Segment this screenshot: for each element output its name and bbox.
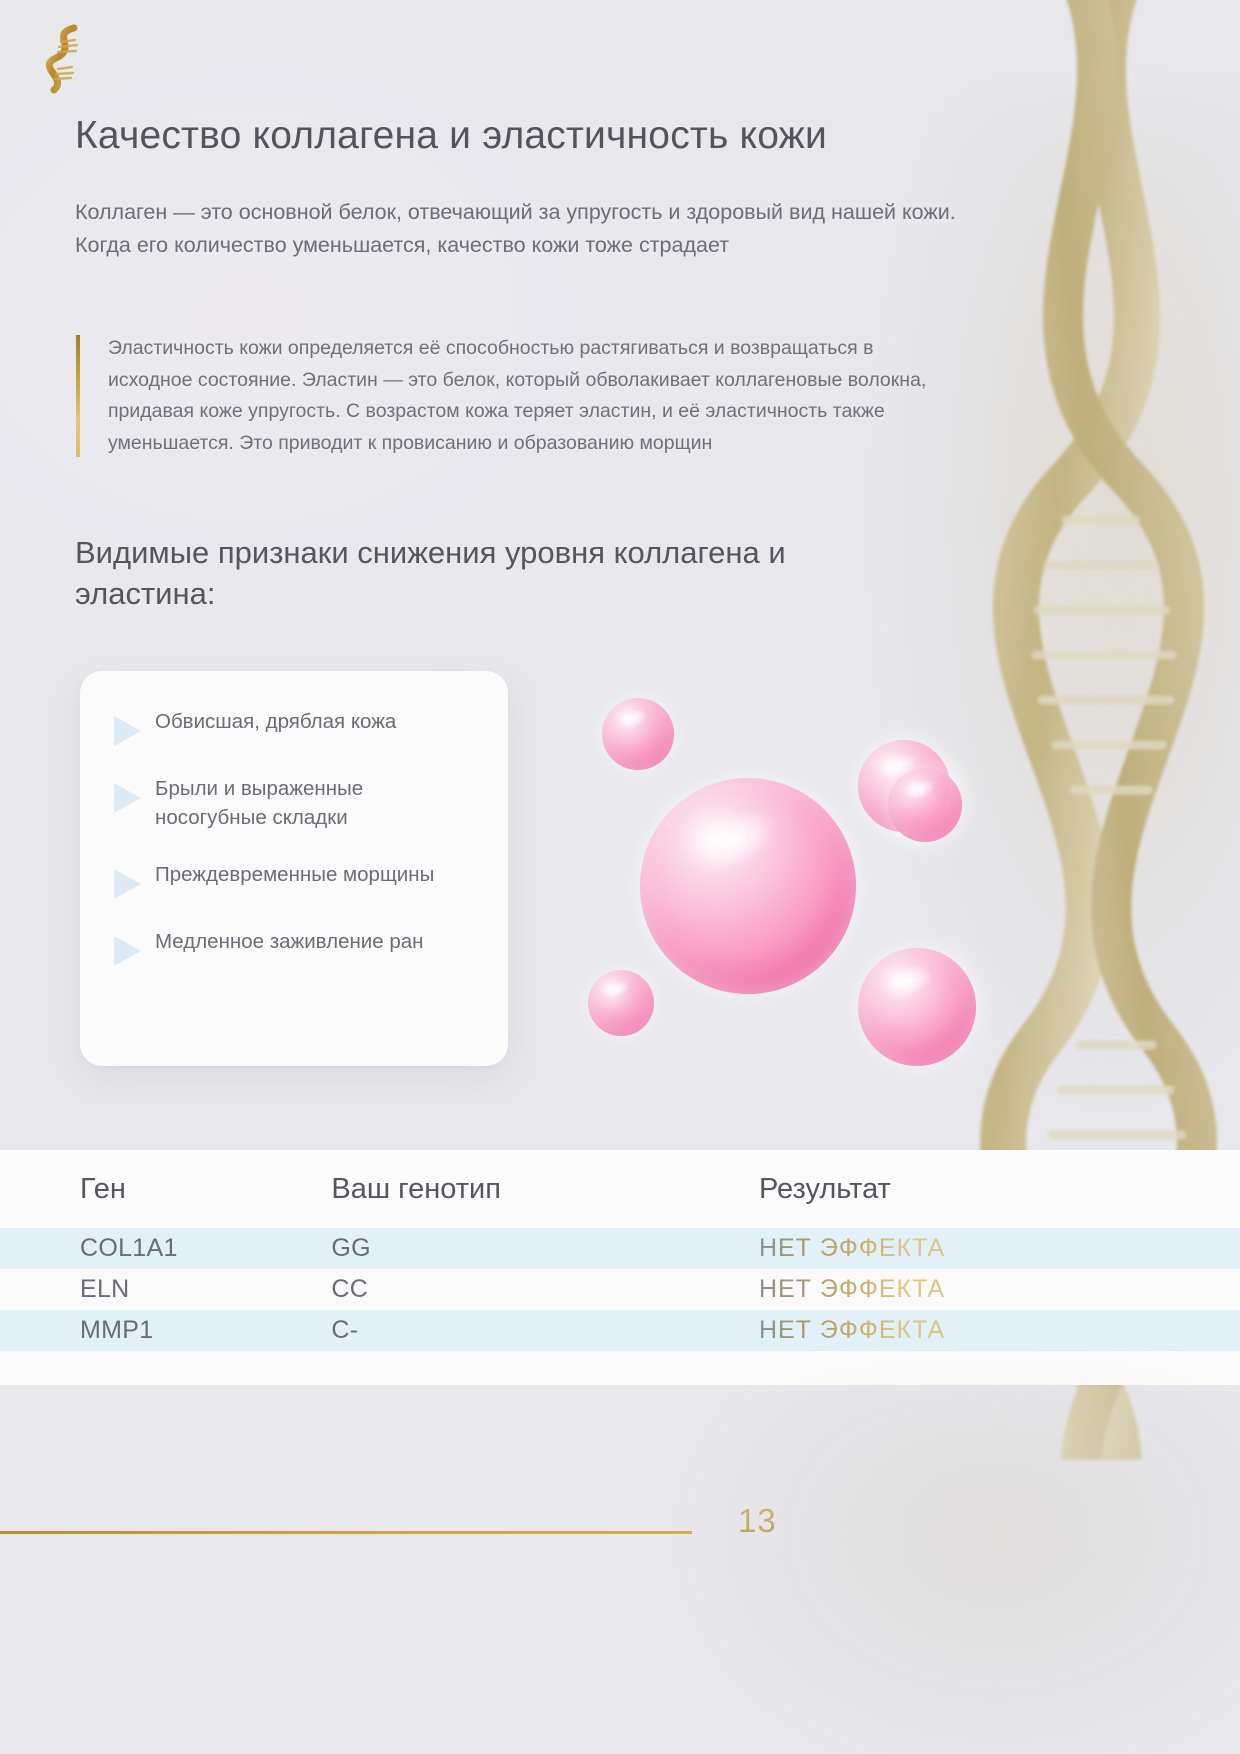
intro-paragraph: Коллаген — это основной белок, отвечающи… (75, 196, 975, 261)
list-item: Медленное заживление ран (98, 921, 482, 966)
table-row: ELN CC НЕТ ЭФФЕКТА (0, 1269, 1240, 1310)
list-item: Преждевременные морщины (98, 854, 482, 899)
table-body: COL1A1 GG НЕТ ЭФФЕКТА ELN CC НЕТ ЭФФЕКТА… (0, 1228, 1240, 1351)
column-header-gene: Ген (0, 1150, 331, 1228)
status-badge: НЕТ ЭФФЕКТА (759, 1234, 945, 1262)
triangle-bullet-icon (114, 936, 141, 966)
cell-gene: MMP1 (0, 1310, 331, 1351)
list-item-label: Брыли и выраженные носогубные складки (155, 768, 455, 832)
callout-quote: Эластичность кожи определяется её способ… (76, 333, 956, 459)
table-row: COL1A1 GG НЕТ ЭФФЕКТА (0, 1228, 1240, 1269)
cell-gene: ELN (0, 1269, 331, 1310)
list-item: Обвисшая, дряблая кожа (98, 701, 482, 746)
table-footer-spacer (0, 1351, 1240, 1385)
dna-helix-logo-icon (34, 22, 96, 94)
column-header-genotype: Ваш генотип (331, 1150, 759, 1228)
cell-genotype: C- (331, 1310, 759, 1351)
signs-section-heading: Видимые признаки снижения уровня коллаге… (75, 533, 875, 615)
status-badge: НЕТ ЭФФЕКТА (759, 1316, 945, 1344)
triangle-bullet-icon (114, 716, 141, 746)
list-item-label: Преждевременные морщины (155, 854, 434, 889)
cell-genotype: GG (331, 1228, 759, 1269)
results-table: Ген Ваш генотип Результат COL1A1 GG НЕТ … (0, 1150, 1240, 1385)
table-header-row: Ген Ваш генотип Результат (0, 1150, 1240, 1228)
page-number: 13 (738, 1502, 777, 1540)
status-badge: НЕТ ЭФФЕКТА (759, 1275, 945, 1303)
list-item: Брыли и выраженные носогубные складки (98, 768, 482, 832)
page-title: Качество коллагена и эластичность кожи (75, 113, 975, 159)
results-table-wrapper: Ген Ваш генотип Результат COL1A1 GG НЕТ … (0, 1150, 1240, 1385)
table-row: MMP1 C- НЕТ ЭФФЕКТА (0, 1310, 1240, 1351)
signs-card: Обвисшая, дряблая кожа Брыли и выраженны… (80, 671, 508, 1066)
column-header-result: Результат (759, 1150, 1240, 1228)
cell-result: НЕТ ЭФФЕКТА (759, 1310, 1240, 1351)
triangle-bullet-icon (114, 869, 141, 899)
cell-genotype: CC (331, 1269, 759, 1310)
cell-result: НЕТ ЭФФЕКТА (759, 1269, 1240, 1310)
list-item-label: Медленное заживление ран (155, 921, 423, 956)
cell-result: НЕТ ЭФФЕКТА (759, 1228, 1240, 1269)
table-header: Ген Ваш генотип Результат (0, 1150, 1240, 1228)
list-item-label: Обвисшая, дряблая кожа (155, 701, 396, 736)
cell-gene: COL1A1 (0, 1228, 331, 1269)
triangle-bullet-icon (114, 783, 141, 813)
footer-divider (0, 1531, 692, 1534)
